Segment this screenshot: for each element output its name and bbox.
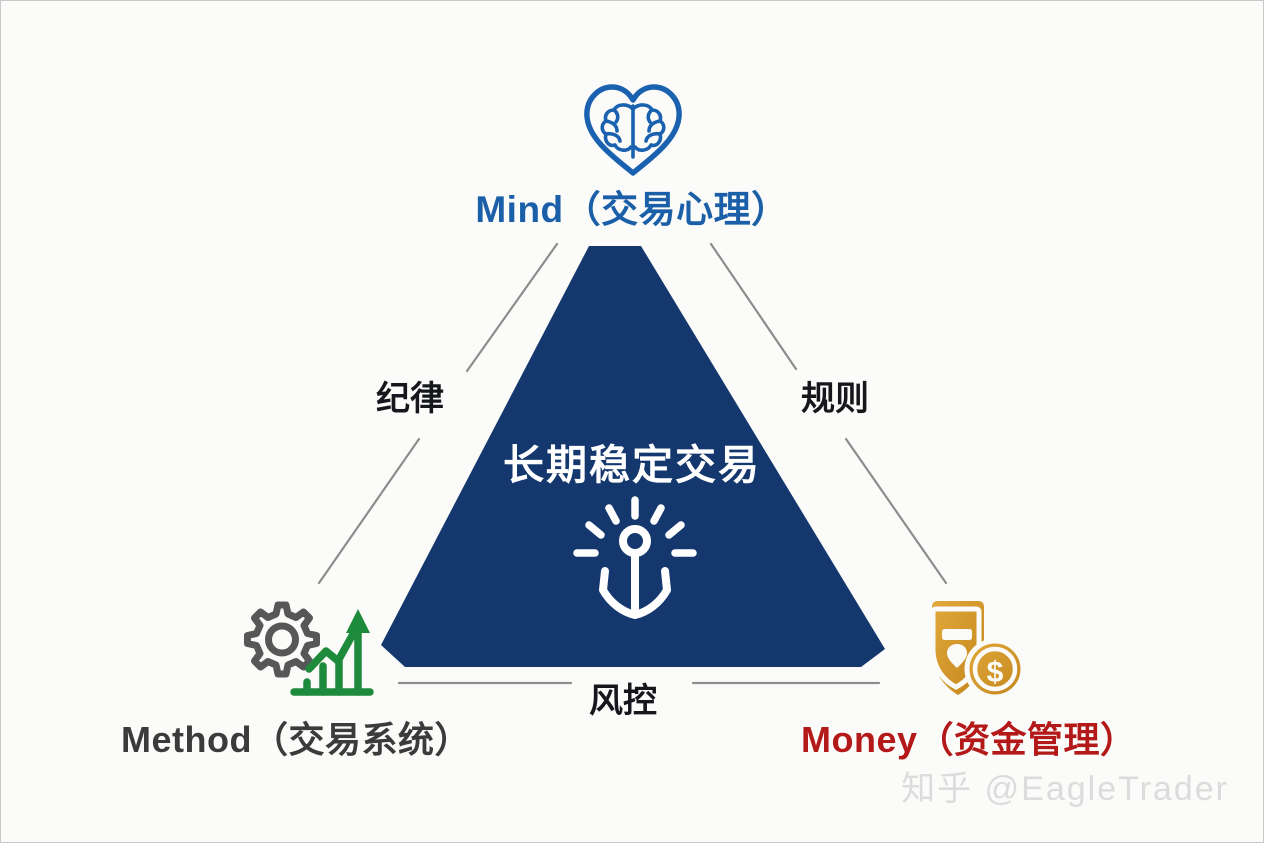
- watermark: 知乎 @EagleTrader: [901, 761, 1229, 810]
- core-triangle-text: 长期稳定交易: [1, 431, 1263, 491]
- connector-right-upper: [711, 244, 796, 369]
- anchor-icon: [561, 496, 709, 621]
- svg-text:$: $: [987, 656, 1004, 689]
- node-label-method: Method（交易系统）: [121, 711, 471, 763]
- heart-brain-icon: [579, 79, 687, 179]
- shield-coin-icon: $: [896, 597, 1024, 702]
- edge-label-discipline: 纪律: [376, 371, 444, 420]
- edge-label-risk-control: 风控: [589, 673, 657, 722]
- diagram-canvas: $ Mind（交易心理） Method（交易系统） Money（资: [0, 0, 1264, 843]
- node-label-money: Money（资金管理）: [801, 711, 1137, 763]
- node-label-mind: Mind（交易心理）: [1, 179, 1263, 233]
- arrow-head-icon: [346, 609, 370, 633]
- gear-icon: [248, 605, 317, 674]
- gear-growth-chart-icon: [234, 599, 378, 699]
- edge-label-rules: 规则: [801, 371, 869, 420]
